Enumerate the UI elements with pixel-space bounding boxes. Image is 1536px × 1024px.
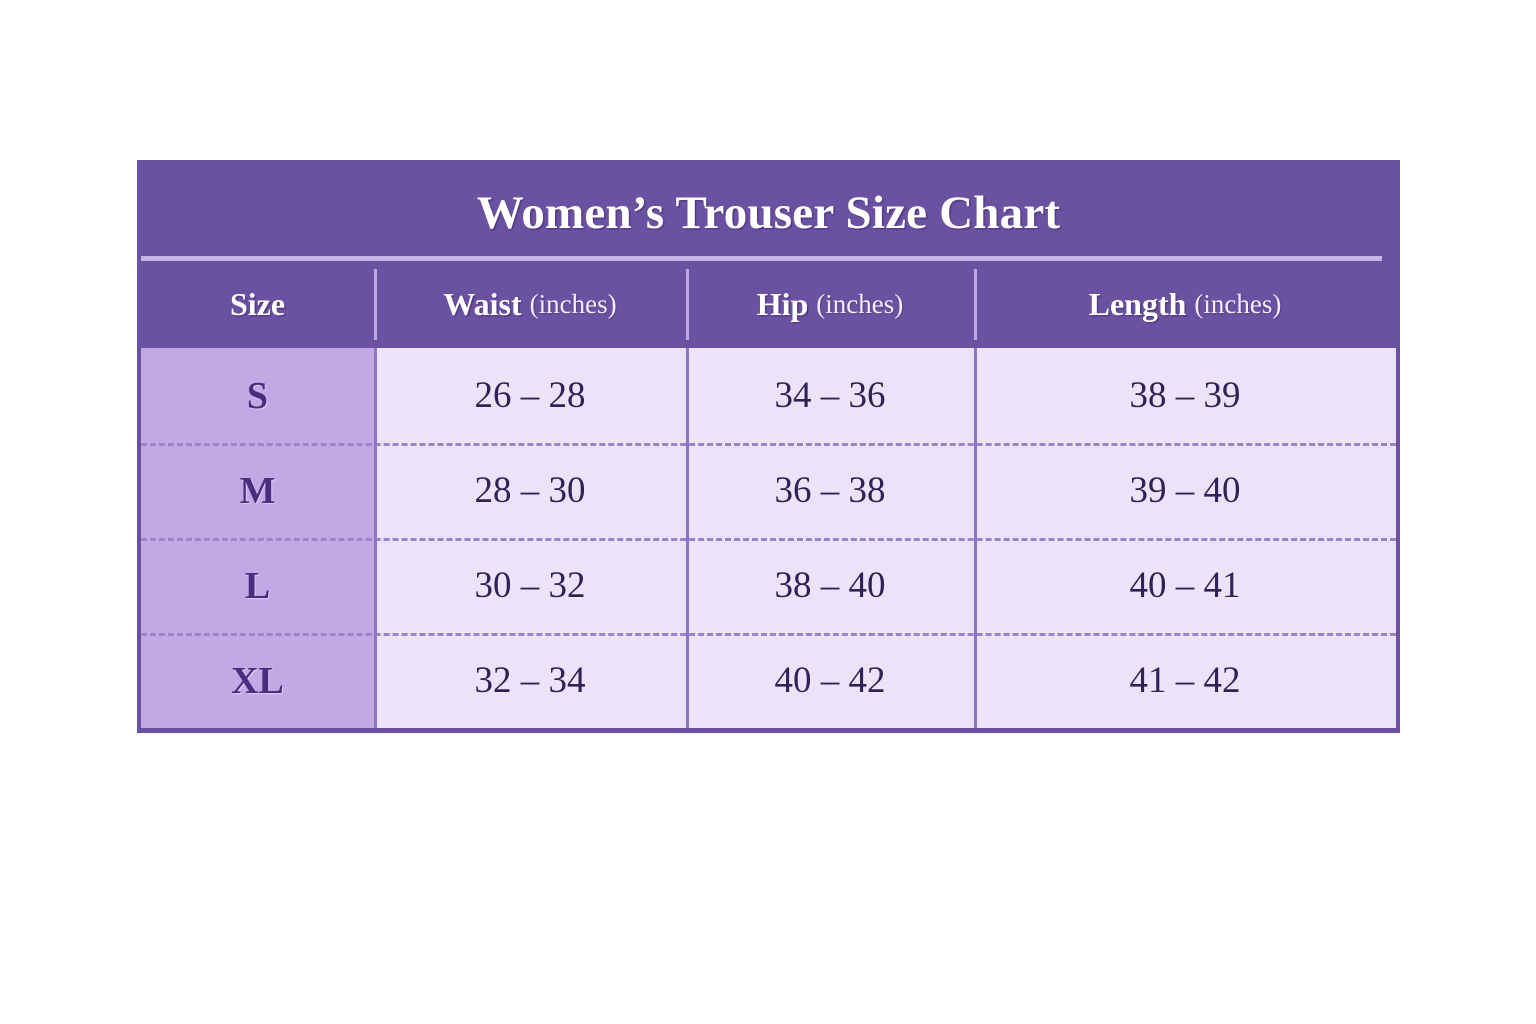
size-chart-table: Women’s Trouser Size Chart Size Waist (i… bbox=[137, 160, 1400, 733]
length-value: 39 – 40 bbox=[1130, 469, 1241, 512]
hip-value: 36 – 38 bbox=[775, 469, 886, 512]
table-body: S 26 – 28 34 – 36 38 – 39 M 28 – 30 bbox=[141, 348, 1396, 728]
table-row: M 28 – 30 36 – 38 39 – 40 bbox=[141, 443, 1396, 538]
cell-hip: 36 – 38 bbox=[686, 443, 974, 538]
cell-size: S bbox=[141, 348, 374, 443]
column-header-size-label: Size bbox=[230, 286, 285, 323]
column-header-waist: Waist (inches) bbox=[374, 261, 686, 348]
page-title: Women’s Trouser Size Chart bbox=[477, 186, 1061, 240]
length-value: 38 – 39 bbox=[1130, 374, 1241, 417]
column-header-size: Size bbox=[141, 261, 374, 348]
column-header-hip-label: Hip bbox=[757, 286, 809, 323]
chart-title-band: Women’s Trouser Size Chart bbox=[141, 164, 1396, 261]
length-value: 41 – 42 bbox=[1130, 659, 1241, 702]
table-row: XL 32 – 34 40 – 42 41 – 42 bbox=[141, 633, 1396, 728]
waist-value: 32 – 34 bbox=[475, 659, 586, 702]
page-canvas: Women’s Trouser Size Chart Size Waist (i… bbox=[0, 0, 1536, 1024]
cell-waist: 30 – 32 bbox=[374, 538, 686, 633]
column-header-length-label: Length bbox=[1089, 286, 1187, 323]
cell-length: 41 – 42 bbox=[974, 633, 1396, 728]
column-header-hip-unit: (inches) bbox=[816, 289, 903, 320]
cell-hip: 34 – 36 bbox=[686, 348, 974, 443]
hip-value: 38 – 40 bbox=[775, 564, 886, 607]
cell-hip: 40 – 42 bbox=[686, 633, 974, 728]
size-label: XL bbox=[231, 659, 284, 703]
table-row: S 26 – 28 34 – 36 38 – 39 bbox=[141, 348, 1396, 443]
column-header-hip: Hip (inches) bbox=[686, 261, 974, 348]
cell-length: 38 – 39 bbox=[974, 348, 1396, 443]
hip-value: 40 – 42 bbox=[775, 659, 886, 702]
column-header-length-unit: (inches) bbox=[1194, 289, 1281, 320]
waist-value: 28 – 30 bbox=[475, 469, 586, 512]
column-header-waist-label: Waist bbox=[443, 286, 521, 323]
table-row: L 30 – 32 38 – 40 40 – 41 bbox=[141, 538, 1396, 633]
waist-value: 26 – 28 bbox=[475, 374, 586, 417]
hip-value: 34 – 36 bbox=[775, 374, 886, 417]
table-header-row: Size Waist (inches) Hip (inches) Length … bbox=[141, 261, 1396, 348]
cell-size: M bbox=[141, 443, 374, 538]
cell-hip: 38 – 40 bbox=[686, 538, 974, 633]
size-label: S bbox=[247, 374, 268, 418]
waist-value: 30 – 32 bbox=[475, 564, 586, 607]
cell-waist: 28 – 30 bbox=[374, 443, 686, 538]
length-value: 40 – 41 bbox=[1130, 564, 1241, 607]
cell-size: XL bbox=[141, 633, 374, 728]
cell-length: 40 – 41 bbox=[974, 538, 1396, 633]
size-label: M bbox=[240, 469, 276, 513]
size-label: L bbox=[245, 564, 270, 608]
column-header-waist-unit: (inches) bbox=[530, 289, 617, 320]
cell-waist: 32 – 34 bbox=[374, 633, 686, 728]
column-header-length: Length (inches) bbox=[974, 261, 1396, 348]
cell-size: L bbox=[141, 538, 374, 633]
cell-length: 39 – 40 bbox=[974, 443, 1396, 538]
cell-waist: 26 – 28 bbox=[374, 348, 686, 443]
